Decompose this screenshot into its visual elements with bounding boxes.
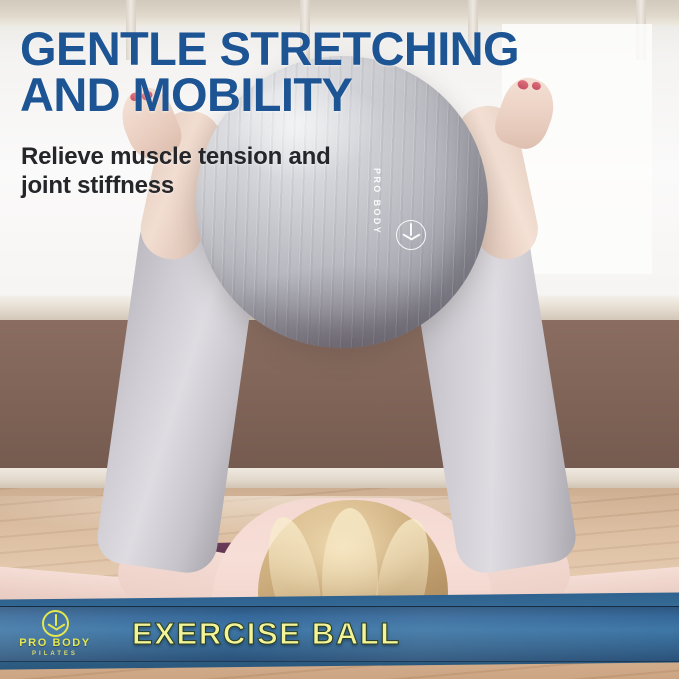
subheadline-line-1: Relieve muscle tension and bbox=[21, 142, 451, 171]
bottom-brand-banner: PRO BODY PILATES EXERCISE BALL bbox=[0, 606, 679, 662]
banner-product-title: EXERCISE BALL bbox=[132, 616, 401, 652]
baseboard bbox=[0, 468, 679, 490]
ball-shadow bbox=[196, 225, 488, 348]
headline-line-2: AND MOBILITY bbox=[20, 72, 640, 118]
brand-name-primary: PRO BODY bbox=[19, 638, 90, 649]
subheadline: Relieve muscle tension and joint stiffne… bbox=[21, 142, 451, 200]
probody-circle-logo-icon bbox=[42, 610, 69, 637]
headline: GENTLE STRETCHING AND MOBILITY bbox=[20, 26, 640, 118]
brand-name-secondary: PILATES bbox=[32, 650, 78, 659]
headline-line-1: GENTLE STRETCHING bbox=[20, 26, 640, 72]
product-marketing-image: PRO BODY GENTLE STRETCHING AND MOBILITY … bbox=[0, 0, 679, 679]
subheadline-line-2: joint stiffness bbox=[21, 171, 451, 200]
brand-logo: PRO BODY PILATES bbox=[0, 606, 110, 662]
ball-logo-icon bbox=[396, 220, 426, 250]
